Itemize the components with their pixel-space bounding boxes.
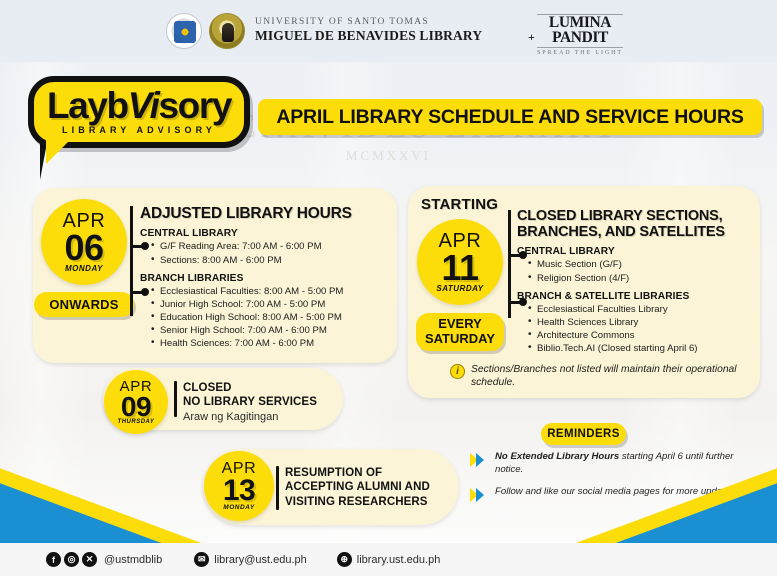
list-item: Biblio.Tech.AI (Closed starting April 6) bbox=[528, 342, 755, 355]
page-title: APRIL LIBRARY SCHEDULE AND SERVICE HOURS bbox=[276, 106, 743, 129]
facebook-icon[interactable]: f bbox=[46, 552, 61, 567]
holiday-line-1: CLOSED bbox=[183, 381, 317, 395]
date-circle-apr-09: APR 09 THURSDAY bbox=[104, 370, 168, 434]
section-item-list: Ecclesiastical Faculties Library Health … bbox=[528, 303, 755, 356]
section-heading: BRANCH LIBRARIES bbox=[140, 273, 390, 284]
list-item: Health Sciences Library bbox=[528, 316, 755, 329]
date-circle-apr-11: APR 11 SATURDAY bbox=[417, 219, 503, 305]
lumina-pandit-logo: LUMINA PANDIT SPREAD THE LIGHT bbox=[537, 13, 623, 56]
library-name: MIGUEL DE BENAVIDES LIBRARY bbox=[255, 29, 482, 43]
reminders-badge: REMINDERS bbox=[541, 423, 626, 445]
website-text[interactable]: library.ust.edu.ph bbox=[357, 554, 441, 566]
holiday-line-3: Araw ng Kagitingan bbox=[183, 410, 317, 424]
resumption-line-1: RESUMPTION OF bbox=[285, 466, 430, 480]
globe-icon: ⊕ bbox=[337, 552, 352, 567]
lumina-tagline: SPREAD THE LIGHT bbox=[537, 50, 623, 56]
list-item: Religion Section (4/F) bbox=[528, 272, 755, 285]
closed-section-central: CENTRAL LIBRARY Music Section (G/F) Reli… bbox=[517, 246, 755, 284]
poster-canvas: de BENAVIDES LIBRARY MCMXXVI UNIVERSITY … bbox=[0, 0, 777, 576]
header-institution-text: UNIVERSITY OF SANTO TOMAS MIGUEL DE BENA… bbox=[255, 18, 482, 43]
list-item: Senior High School: 7:00 AM - 6:00 PM bbox=[151, 324, 390, 337]
onwards-badge: ONWARDS bbox=[34, 292, 134, 317]
adjusted-hours-title: ADJUSTED LIBRARY HOURS bbox=[140, 205, 390, 222]
list-item: Architecture Commons bbox=[528, 329, 755, 342]
list-item: Music Section (G/F) bbox=[528, 258, 755, 271]
reminder-bold-text: No Extended Library Hours bbox=[495, 451, 619, 462]
list-item: Ecclesiastical Faculties Library bbox=[528, 303, 755, 316]
corner-accent-bottom-left-blue bbox=[0, 481, 164, 544]
section-item-list: Ecclesiastical Faculties: 8:00 AM - 5:00… bbox=[151, 285, 390, 351]
date-circle-apr-06: APR 06 MONDAY bbox=[41, 199, 127, 285]
date-day: 11 bbox=[441, 251, 478, 284]
holiday-divider bbox=[174, 381, 177, 417]
list-item: G/F Reading Area: 7:00 AM - 6:00 PM bbox=[151, 240, 390, 253]
resumption-line-3: VISITING RESEARCHERS bbox=[285, 495, 430, 509]
list-item: Sections: 8:00 AM - 6:00 PM bbox=[151, 254, 390, 267]
pandit-word: PANDIT bbox=[537, 31, 623, 46]
laybvisory-wordmark: LaybVisory bbox=[47, 89, 231, 122]
info-icon: i bbox=[450, 364, 465, 379]
section-heading: CENTRAL LIBRARY bbox=[517, 246, 755, 257]
closed-section-branch: BRANCH & SATELLITE LIBRARIES Ecclesiasti… bbox=[517, 291, 755, 356]
closed-sections-title: CLOSED LIBRARY SECTIONS, BRANCHES, AND S… bbox=[517, 208, 755, 240]
date-day: 09 bbox=[121, 394, 151, 420]
poster-title-banner: APRIL LIBRARY SCHEDULE AND SERVICE HOURS bbox=[258, 99, 762, 135]
resumption-text: RESUMPTION OF ACCEPTING ALUMNI AND VISIT… bbox=[285, 466, 430, 509]
section-heading: CENTRAL LIBRARY bbox=[140, 228, 390, 239]
list-item: Education High School: 8:00 AM - 5:00 PM bbox=[151, 311, 390, 324]
date-circle-apr-13: APR 13 MONDAY bbox=[204, 451, 274, 521]
wordmark-part-c: i bbox=[150, 85, 159, 126]
adjusted-section-branch: BRANCH LIBRARIES Ecclesiastical Facultie… bbox=[140, 273, 390, 351]
social-handles-group: f ◎ ✕ @ustmdblib bbox=[46, 552, 162, 567]
laybvisory-logo: LaybVisory LIBRARY ADVISORY bbox=[28, 76, 250, 148]
date-day: 06 bbox=[64, 231, 103, 264]
date-weekday: MONDAY bbox=[65, 264, 103, 273]
closed-sections-content: CLOSED LIBRARY SECTIONS, BRANCHES, AND S… bbox=[517, 208, 755, 355]
wordmark-part-b: V bbox=[128, 85, 150, 126]
list-item: Junior High School: 7:00 AM - 5:00 PM bbox=[151, 298, 390, 311]
wordmark-part-a: Layb bbox=[47, 85, 128, 126]
date-weekday: SATURDAY bbox=[436, 284, 483, 293]
library-seal-icon bbox=[209, 13, 245, 49]
adjusted-hours-content: ADJUSTED LIBRARY HOURS CENTRAL LIBRARY G… bbox=[140, 205, 390, 350]
resumption-divider bbox=[276, 466, 279, 510]
section-heading: BRANCH & SATELLITE LIBRARIES bbox=[517, 291, 755, 302]
envelope-icon: ✉ bbox=[194, 552, 209, 567]
university-name: UNIVERSITY OF SANTO TOMAS bbox=[255, 18, 482, 28]
lumina-rule-bottom bbox=[537, 47, 623, 48]
operational-schedule-note: i Sections/Branches not listed will main… bbox=[450, 363, 750, 389]
every-saturday-badge: EVERY SATURDAY bbox=[416, 313, 504, 351]
starting-label: STARTING bbox=[421, 196, 498, 213]
ust-seal-icon bbox=[166, 13, 202, 49]
date-day: 13 bbox=[223, 477, 255, 505]
section-item-list: Music Section (G/F) Religion Section (4/… bbox=[528, 258, 755, 284]
resumption-line-2: ACCEPTING ALUMNI AND bbox=[285, 480, 430, 494]
social-handle-text: @ustmdblib bbox=[104, 554, 162, 566]
double-chevron-right-icon bbox=[470, 452, 488, 469]
holiday-line-2: NO LIBRARY SERVICES bbox=[183, 395, 317, 409]
bracket-vertical bbox=[130, 206, 133, 316]
corner-accent-bottom-right-blue bbox=[613, 481, 777, 544]
email-text[interactable]: library@ust.edu.ph bbox=[214, 554, 307, 566]
holiday-text: CLOSED NO LIBRARY SERVICES Araw ng Kagit… bbox=[183, 381, 317, 424]
adjusted-section-central: CENTRAL LIBRARY G/F Reading Area: 7:00 A… bbox=[140, 228, 390, 266]
date-weekday: MONDAY bbox=[223, 504, 254, 511]
double-chevron-right-icon bbox=[470, 487, 488, 504]
instagram-icon[interactable]: ◎ bbox=[64, 552, 79, 567]
section-item-list: G/F Reading Area: 7:00 AM - 6:00 PM Sect… bbox=[151, 240, 390, 266]
wordmark-part-d: sory bbox=[159, 85, 232, 126]
laybvisory-subtitle: LIBRARY ADVISORY bbox=[62, 125, 216, 135]
website-group: ⊕ library.ust.edu.ph bbox=[337, 552, 441, 567]
note-text: Sections/Branches not listed will mainta… bbox=[471, 363, 750, 389]
speech-bubble-tail-fill bbox=[46, 140, 70, 164]
list-item: Ecclesiastical Faculties: 8:00 AM - 5:00… bbox=[151, 285, 390, 298]
date-weekday: THURSDAY bbox=[118, 419, 155, 425]
brand-header-band: UNIVERSITY OF SANTO TOMAS MIGUEL DE BENA… bbox=[0, 0, 777, 62]
email-group: ✉ library@ust.edu.ph bbox=[194, 552, 307, 567]
x-twitter-icon[interactable]: ✕ bbox=[82, 552, 97, 567]
list-item: Health Sciences: 7:00 AM - 6:00 PM bbox=[151, 337, 390, 350]
contact-footer: f ◎ ✕ @ustmdblib ✉ library@ust.edu.ph ⊕ … bbox=[0, 543, 777, 576]
